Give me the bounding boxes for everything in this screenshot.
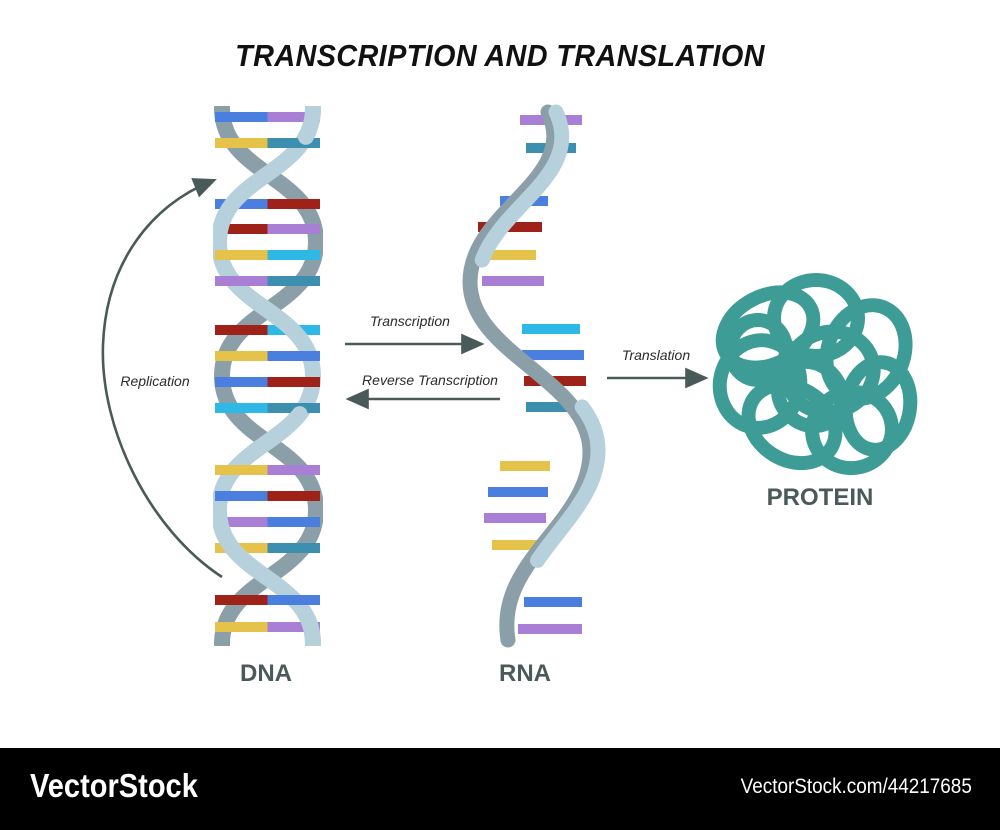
reverse-transcription-label: Reverse Transcription [330,372,530,388]
replication-label: Replication [90,373,220,389]
protein-caption: PROTEIN [745,484,895,512]
translation-label: Translation [592,347,720,363]
dna-caption: DNA [196,660,336,688]
vectorstock-url: VectorStock.com/44217685 [741,775,972,799]
watermark-footer: VectorStock VectorStock.com/44217685 [0,748,1000,830]
diagram-canvas: TRANSCRIPTION AND TRANSLATION [0,0,1000,830]
process-arrows [0,0,1000,830]
vectorstock-brand: VectorStock [30,767,198,805]
transcription-label: Transcription [330,313,490,329]
rna-caption: RNA [455,660,595,688]
